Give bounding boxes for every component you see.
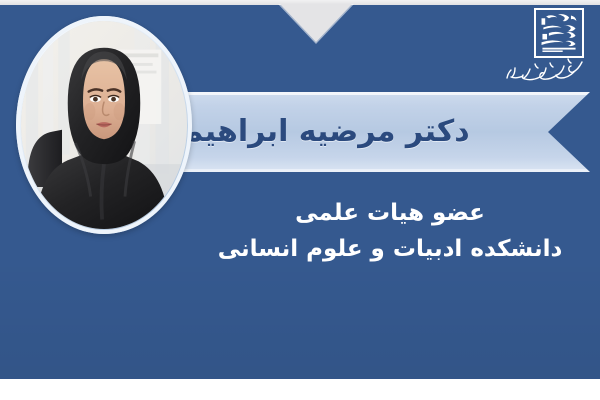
portrait-photo [21, 21, 187, 229]
portrait-frame [16, 16, 192, 234]
university-emblem-icon [534, 8, 584, 58]
faculty-name: دانشکده ادبیات و علوم انسانی [190, 232, 590, 268]
position-title: عضو هیات علمی [190, 196, 590, 232]
position-and-faculty: عضو هیات علمی دانشکده ادبیات و علوم انسا… [190, 196, 590, 267]
profile-poster: دکتر مرضیه ابراهیمی [0, 0, 600, 400]
public-relations-script-icon [502, 56, 586, 88]
university-logo [502, 6, 588, 90]
